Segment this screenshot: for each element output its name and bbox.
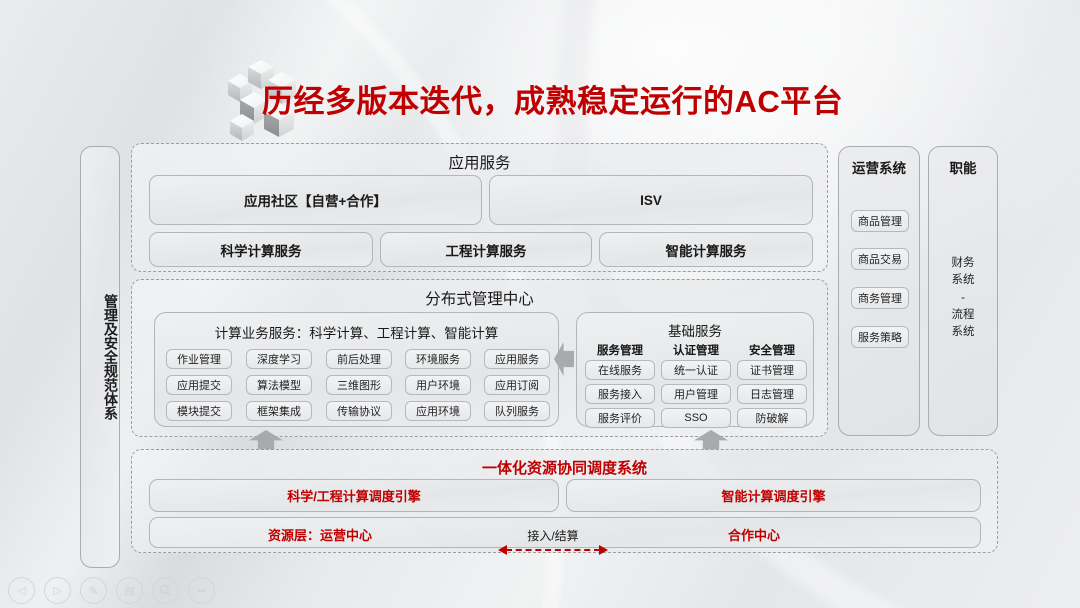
tag-application-submit[interactable]: 应用提交 [166,375,232,395]
tag-application-service[interactable]: 应用服务 [484,349,550,369]
access-settlement-label: 接入/结算 [498,527,608,544]
basic-col-head-security-management: 安全管理 [737,342,807,358]
card-engineering-compute-service[interactable]: 工程计算服务 [380,232,592,267]
slide-toolbar: ◁ ▷ ✎ ▤ ••• [8,577,215,604]
tag-service-policy[interactable]: 服务策略 [851,326,909,348]
tag-deep-learning[interactable]: 深度学习 [246,349,312,369]
tag-application-environment[interactable]: 应用环境 [405,401,471,421]
previous-slide-icon[interactable]: ◁ [8,577,35,604]
resource-layer-right-label: 合作中心 [728,525,780,544]
next-slide-icon[interactable]: ▷ [44,577,71,604]
zoom-tool-icon[interactable] [152,577,179,604]
left-rail-label: 管理及安全规范体系 [81,294,119,420]
next-slide-glyph: ▷ [53,584,61,597]
app-services-title: 应用服务 [132,151,827,173]
resource-layer-row[interactable]: 资源层：运营中心 接入/结算 合作中心 [149,517,981,548]
basic-col-head-service-management: 服务管理 [585,342,655,358]
tag-product-trading[interactable]: 商品交易 [851,248,909,270]
tag-business-management[interactable]: 商务管理 [851,287,909,309]
tag-algorithm-model[interactable]: 算法模型 [246,375,312,395]
tag-environment-service[interactable]: 环境服务 [405,349,471,369]
compute-business-services-box: 计算业务服务：科学计算、工程计算、智能计算 作业管理 深度学习 前后处理 环境服… [154,312,559,427]
function-rail-title: 职能 [929,157,997,177]
card-intelligent-compute-service[interactable]: 智能计算服务 [599,232,813,267]
magnifier-shape [159,584,172,597]
tag-queue-service[interactable]: 队列服务 [484,401,550,421]
tag-transport-protocol[interactable]: 传输协议 [326,401,392,421]
tag-certificate-management[interactable]: 证书管理 [737,360,807,380]
tag-anti-cracking[interactable]: 防破解 [737,408,807,428]
tag-module-submit[interactable]: 模块提交 [166,401,232,421]
scheduling-system-panel: 一体化资源协同调度系统 科学/工程计算调度引擎 智能计算调度引擎 资源层：运营中… [131,449,998,553]
layout-view-icon[interactable]: ▤ [116,577,143,604]
tag-pre-post-processing[interactable]: 前后处理 [326,349,392,369]
basic-services-box: 基础服务 服务管理 认证管理 安全管理 在线服务 服务接入 服务评价 统一认证 … [576,312,814,427]
tag-3d-graphics[interactable]: 三维图形 [326,375,392,395]
pen-tool-icon[interactable]: ✎ [80,577,107,604]
tag-unified-auth[interactable]: 统一认证 [661,360,731,380]
left-rail-governance: 管理及安全规范体系 [80,146,120,568]
double-arrow-icon [498,545,608,555]
tag-sso[interactable]: SSO [661,408,731,428]
card-science-compute-service[interactable]: 科学计算服务 [149,232,373,267]
scheduling-system-title: 一体化资源协同调度系统 [132,457,997,478]
management-center-panel: 分布式管理中心 计算业务服务：科学计算、工程计算、智能计算 作业管理 深度学习 … [131,279,828,437]
previous-slide-glyph: ◁ [17,584,25,597]
tag-product-management[interactable]: 商品管理 [851,210,909,232]
function-rail-body: 财务 系统 - 流程 系统 [929,255,997,341]
tag-application-subscription[interactable]: 应用订阅 [484,375,550,395]
card-app-community[interactable]: 应用社区【自营+合作】 [149,175,482,225]
tag-user-environment[interactable]: 用户环境 [405,375,471,395]
app-services-panel: 应用服务 应用社区【自营+合作】 ISV 科学计算服务 工程计算服务 智能计算服… [131,143,828,272]
tag-job-management[interactable]: 作业管理 [166,349,232,369]
compute-business-heading: 计算业务服务：科学计算、工程计算、智能计算 [155,322,558,342]
ops-system-title: 运营系统 [839,157,919,177]
card-intelligent-scheduler[interactable]: 智能计算调度引擎 [566,479,981,512]
tag-service-access[interactable]: 服务接入 [585,384,655,404]
ops-system-rail: 运营系统 商品管理 商品交易 商务管理 服务策略 [838,146,920,436]
tag-online-service[interactable]: 在线服务 [585,360,655,380]
layout-view-glyph: ▤ [124,584,134,597]
function-rail: 职能 财务 系统 - 流程 系统 [928,146,998,436]
management-center-title: 分布式管理中心 [132,287,827,309]
tag-log-management[interactable]: 日志管理 [737,384,807,404]
tag-user-management[interactable]: 用户管理 [661,384,731,404]
slide-canvas: 历经多版本迭代，成熟稳定运行的AC平台 管理及安全规范体系 应用服务 应用社区【… [0,0,1080,608]
card-isv[interactable]: ISV [489,175,813,225]
tag-service-evaluation[interactable]: 服务评价 [585,408,655,428]
page-title: 历经多版本迭代，成熟稳定运行的AC平台 [262,76,843,121]
card-science-engineering-scheduler[interactable]: 科学/工程计算调度引擎 [149,479,559,512]
resource-layer-left-label: 资源层：运营中心 [268,525,372,544]
pen-tool-glyph: ✎ [88,584,98,598]
more-options-glyph: ••• [198,586,206,596]
tag-framework-integration[interactable]: 框架集成 [246,401,312,421]
more-options-icon[interactable]: ••• [188,577,215,604]
basic-col-head-auth-management: 认证管理 [661,342,731,358]
basic-services-heading: 基础服务 [577,320,813,340]
